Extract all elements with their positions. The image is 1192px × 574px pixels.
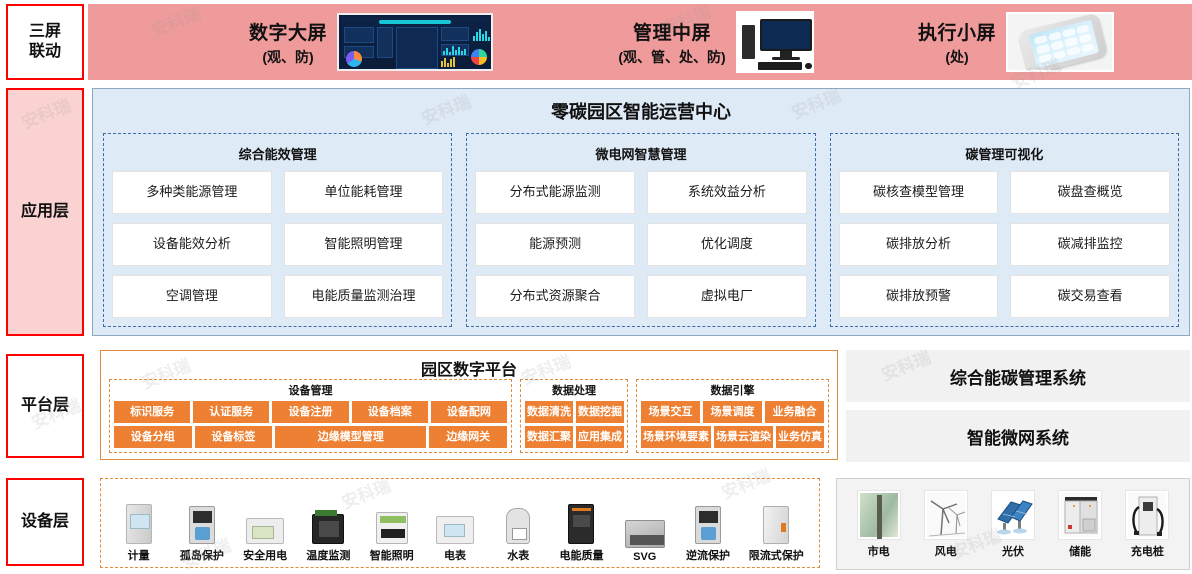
app-tile[interactable]: 单位能耗管理 [284,171,444,214]
app-tile[interactable]: 碳排放预警 [839,275,999,318]
screen-item-big: 数字大屏 (观、防) [176,13,566,71]
platform-chip[interactable]: 场景调度 [703,401,762,423]
platform-group-rows: 数据清洗 数据挖掘 数据汇聚 应用集成 [525,401,623,448]
screen-item-mid-title: 管理中屏 [618,18,725,45]
platform-chip[interactable]: 业务融合 [765,401,824,423]
sidebar-label-device-text: 设备层 [21,512,69,532]
device-item-label: 计量 [128,547,150,563]
platform-groups: 设备管理 标识服务 认证服务 设备注册 设备档案 设备配网 设备分组 设备标签 [109,379,829,453]
screen-linkage-row: 三屏联动 数字大屏 (观、防) [0,4,1192,80]
device-item-label: 温度监测 [306,547,350,563]
application-layer-row: 应用层 零碳园区智能运营中心 综合能效管理 多种类能源管理 单位能耗管理 设备能… [0,88,1192,336]
platform-chip[interactable]: 业务仿真 [776,426,824,448]
smart-lighting-module-icon [372,492,412,544]
platform-chip-row: 场景交互 场景调度 业务融合 [641,401,824,423]
device-item[interactable]: 安全用电 [235,492,295,563]
platform-panel: 园区数字平台 设备管理 标识服务 认证服务 设备注册 设备档案 设备配网 设备 [100,350,838,460]
device-item[interactable]: SVG [615,496,675,563]
app-tile[interactable]: 智能照明管理 [284,223,444,266]
electrical-safety-device-icon [245,492,285,544]
app-tile[interactable]: 系统效益分析 [647,171,807,214]
smartphone-image [1006,12,1114,72]
screen-item-small-title: 执行小屏 [918,18,996,45]
energy-item[interactable]: 风电 [917,490,975,559]
system-card-microgrid[interactable]: 智能微网系统 [846,410,1190,462]
platform-group-device-management: 设备管理 标识服务 认证服务 设备注册 设备档案 设备配网 设备分组 设备标签 [109,379,512,453]
screen-item-mid-sub: (观、管、处、防) [618,47,725,67]
charging-pile-glyph [1128,493,1168,539]
app-tile[interactable]: 虚拟电厂 [647,275,807,318]
energy-item-label: 风电 [935,543,957,559]
app-tile[interactable]: 多种类能源管理 [112,171,272,214]
app-group-grid: 碳核查模型管理 碳盘查概览 碳排放分析 碳减排监控 碳排放预警 碳交易查看 [839,171,1170,318]
sidebar-label-device: 设备层 [6,478,84,566]
din-rail-meter-icon [119,492,159,544]
sidebar-label-platform-text: 平台层 [21,396,69,416]
device-item[interactable]: 电能质量 [551,492,611,563]
energy-source-panel: 市电 [836,478,1190,570]
solar-panel-icon [991,490,1035,540]
wind-turbine-glyph [927,493,967,539]
device-item[interactable]: 温度监测 [298,492,358,563]
pc-tower-part [742,25,755,59]
device-item-label: 限流式保护 [749,547,804,563]
platform-chip[interactable]: 数据汇聚 [525,426,573,448]
dashboard-bar-chart [441,57,455,67]
desktop-monitor-image [736,11,814,73]
screen-item-small-sub: (处) [918,47,996,67]
platform-chip[interactable]: 应用集成 [576,426,624,448]
water-meter-icon [498,492,538,544]
platform-group-rows: 标识服务 认证服务 设备注册 设备档案 设备配网 设备分组 设备标签 边缘模型管… [114,401,507,448]
dashboard-donut-chart [471,49,487,65]
app-tile[interactable]: 空调管理 [112,275,272,318]
platform-chip[interactable]: 场景环境要素 [641,426,711,448]
app-group-energy-efficiency: 综合能效管理 多种类能源管理 单位能耗管理 设备能效分析 智能照明管理 空调管理… [103,133,452,327]
app-tile[interactable]: 分布式资源聚合 [475,275,635,318]
app-tile[interactable]: 优化调度 [647,223,807,266]
platform-chip[interactable]: 数据挖掘 [576,401,624,423]
app-tile[interactable]: 碳核查模型管理 [839,171,999,214]
app-tile[interactable]: 碳减排监控 [1010,223,1170,266]
energy-item[interactable]: 储能 [1051,490,1109,559]
app-group-title: 碳管理可视化 [839,144,1170,163]
reverse-current-protection-icon [688,492,728,544]
platform-chip[interactable]: 认证服务 [193,401,269,423]
platform-chip[interactable]: 场景交互 [641,401,700,423]
platform-chip[interactable]: 标识服务 [114,401,190,423]
sidebar-label-screens-text: 三屏联动 [29,22,61,62]
app-tile[interactable]: 碳排放分析 [839,223,999,266]
platform-group-data-engine: 数据引擎 场景交互 场景调度 业务融合 场景环境要素 场景云渲染 业务仿真 [636,379,829,453]
screen-item-small-text: 执行小屏 (处) [918,18,996,67]
device-item-label: 电能质量 [559,547,603,563]
application-panel-title: 零碳园区智能运营中心 [93,98,1189,124]
platform-layer-row: 平台层 园区数字平台 设备管理 标识服务 认证服务 设备注册 设备档案 设备配网 [0,350,1192,468]
platform-group-rows: 场景交互 场景调度 业务融合 场景环境要素 场景云渲染 业务仿真 [641,401,824,448]
energy-item[interactable]: 光伏 [984,490,1042,559]
platform-chip-row: 数据汇聚 应用集成 [525,426,623,448]
sidebar-label-platform: 平台层 [6,354,84,458]
monitor-screen-part [760,19,812,51]
device-item-label: 安全用电 [243,547,287,563]
app-tile[interactable]: 设备能效分析 [112,223,272,266]
phone-screen-part [1029,20,1099,68]
current-limiting-protection-icon [756,492,796,544]
energy-item[interactable]: 充电桩 [1118,490,1176,559]
power-quality-device-icon [561,492,601,544]
app-group-grid: 分布式能源监测 系统效益分析 能源预测 优化调度 分布式资源聚合 虚拟电厂 [475,171,806,318]
application-panel: 零碳园区智能运营中心 综合能效管理 多种类能源管理 单位能耗管理 设备能效分析 … [92,88,1190,336]
mouse-part [805,63,812,69]
monitor-base-part [772,57,800,60]
dashboard-screen-image [337,13,493,71]
platform-chip[interactable]: 设备档案 [352,401,428,423]
wind-turbine-icon [924,490,968,540]
ev-charging-pile-icon [1125,490,1169,540]
dashboard-screen-inner [341,17,489,67]
platform-chip[interactable]: 边缘网关 [429,426,507,448]
app-group-title: 综合能效管理 [112,144,443,163]
protection-relay-icon [182,492,222,544]
device-item-label: 孤岛保护 [180,547,224,563]
platform-group-title: 数据引擎 [641,382,824,398]
energy-item[interactable]: 市电 [850,490,908,559]
platform-chip[interactable]: 数据清洗 [525,401,573,423]
platform-panel-title: 园区数字平台 [101,356,837,380]
screen-item-big-title: 数字大屏 [249,18,327,45]
device-item[interactable]: 逆流保护 [678,492,738,563]
energy-item-label: 光伏 [1002,543,1024,559]
utility-grid-icon [857,490,901,540]
device-item-label: 电表 [444,547,466,563]
device-item[interactable]: 孤岛保护 [172,492,232,563]
device-item-label: 水表 [507,547,529,563]
battery-storage-icon [1058,490,1102,540]
dashboard-panel [441,27,469,41]
platform-chip[interactable]: 设备标签 [195,426,273,448]
platform-group-title: 设备管理 [114,382,507,398]
dashboard-bar-chart [443,46,466,55]
sidebar-label-application-text: 应用层 [21,202,69,222]
screen-item-big-text: 数字大屏 (观、防) [249,18,327,67]
app-group-grid: 多种类能源管理 单位能耗管理 设备能效分析 智能照明管理 空调管理 电能质量监测… [112,171,443,318]
system-cards-column: 综合能碳管理系统 智能微网系统 [846,350,1190,462]
application-groups: 综合能效管理 多种类能源管理 单位能耗管理 设备能效分析 智能照明管理 空调管理… [103,133,1179,327]
device-item[interactable]: 水表 [488,492,548,563]
sidebar-label-application: 应用层 [6,88,84,336]
temperature-monitor-icon [308,492,348,544]
battery-cabinet-glyph [1061,493,1101,539]
device-item-label: 智能照明 [370,547,414,563]
app-tile[interactable]: 碳盘查概览 [1010,171,1170,214]
device-layer-row: 设备层 计量 孤岛保护 安全用电 温度监测 智能照明 [0,478,1192,570]
app-group-carbon: 碳管理可视化 碳核查模型管理 碳盘查概览 碳排放分析 碳减排监控 碳排放预警 碳… [830,133,1179,327]
screen-item-mid: 管理中屏 (观、管、处、防) [566,11,866,73]
phone-app-icons [1034,24,1095,63]
keyboard-part [758,62,802,70]
screen-item-mid-text: 管理中屏 (观、管、处、防) [618,18,725,67]
platform-chip[interactable]: 设备注册 [272,401,348,423]
platform-group-data-processing: 数据处理 数据清洗 数据挖掘 数据汇聚 应用集成 [520,379,628,453]
screen-item-small: 执行小屏 (处) [866,12,1166,72]
system-card-energy-carbon[interactable]: 综合能碳管理系统 [846,350,1190,402]
device-item-label: 逆流保护 [686,547,730,563]
dashboard-donut-chart [346,51,362,67]
dashboard-panel [377,27,393,58]
platform-group-title: 数据处理 [525,382,623,398]
screen-item-big-sub: (观、防) [249,47,327,67]
app-tile[interactable]: 能源预测 [475,223,635,266]
dashboard-bar-chart [473,29,493,41]
device-item[interactable]: 计量 [109,492,169,563]
device-panel: 计量 孤岛保护 安全用电 温度监测 智能照明 电表 [100,478,820,568]
app-group-microgrid: 微电网智慧管理 分布式能源监测 系统效益分析 能源预测 优化调度 分布式资源聚合… [466,133,815,327]
phone-body-part [1018,13,1108,72]
app-group-title: 微电网智慧管理 [475,144,806,163]
sidebar-label-screens: 三屏联动 [6,4,84,80]
energy-item-label: 储能 [1069,543,1091,559]
energy-item-label: 市电 [868,543,890,559]
device-item-label: SVG [633,551,656,563]
platform-chip-row: 标识服务 认证服务 设备注册 设备档案 设备配网 [114,401,507,423]
device-item[interactable]: 电表 [425,492,485,563]
platform-chip[interactable]: 场景云渲染 [714,426,773,448]
platform-chip-row: 场景环境要素 场景云渲染 业务仿真 [641,426,824,448]
platform-chip[interactable]: 设备配网 [431,401,507,423]
app-tile[interactable]: 分布式能源监测 [475,171,635,214]
app-tile[interactable]: 碳交易查看 [1010,275,1170,318]
dashboard-panel [344,27,374,43]
architecture-diagram: 三屏联动 数字大屏 (观、防) [0,0,1192,572]
platform-chip-row: 数据清洗 数据挖掘 [525,401,623,423]
device-item[interactable]: 智能照明 [362,492,422,563]
device-item[interactable]: 限流式保护 [741,492,811,563]
platform-chip[interactable]: 设备分组 [114,426,192,448]
svg-compensator-icon [625,496,665,548]
dashboard-map-panel [396,27,438,69]
platform-chip[interactable]: 边缘模型管理 [275,426,426,448]
app-tile[interactable]: 电能质量监测治理 [284,275,444,318]
energy-item-label: 充电桩 [1131,543,1164,559]
solar-panel-glyph [994,493,1034,539]
electricity-meter-icon [435,492,475,544]
screens-band: 数字大屏 (观、防) [88,4,1192,80]
dashboard-header-bar [379,20,450,24]
platform-chip-row: 设备分组 设备标签 边缘模型管理 边缘网关 [114,426,507,448]
